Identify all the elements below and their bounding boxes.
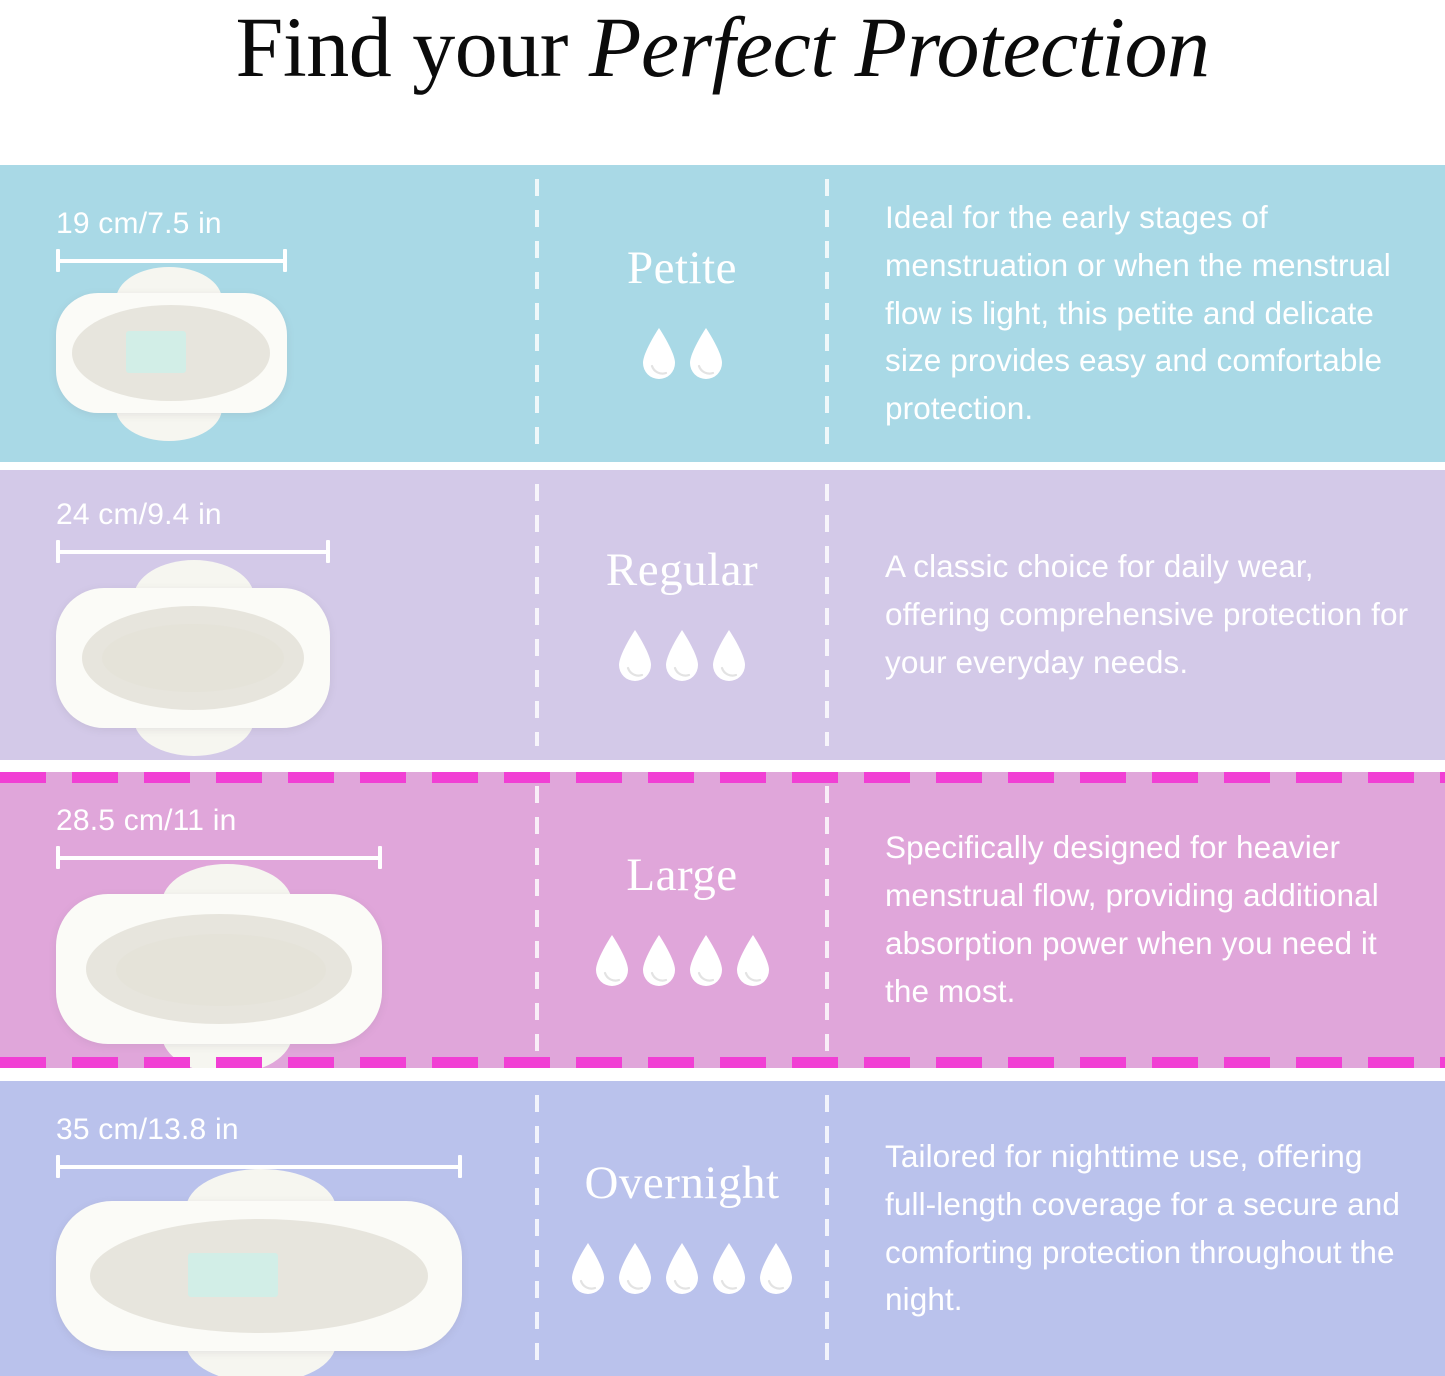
size-row-large[interactable]: 28.5 cm/11 in xyxy=(0,772,1445,1068)
droplet-icon xyxy=(662,1241,702,1297)
size-cell-large: 28.5 cm/11 in xyxy=(0,772,537,1068)
pad-illustration-large xyxy=(56,884,382,1054)
measurement-regular: 24 cm/9.4 in xyxy=(56,498,330,562)
droplet-icon xyxy=(639,933,679,989)
column-divider-1 xyxy=(535,1095,539,1362)
pad-illustration-overnight xyxy=(56,1191,462,1361)
description-cell-petite: Ideal for the early stages of menstruati… xyxy=(827,165,1445,462)
droplet-icon xyxy=(709,628,749,684)
droplet-icon xyxy=(615,628,655,684)
droplet-icon xyxy=(662,628,702,684)
column-divider-2 xyxy=(825,1095,829,1362)
droplet-icon xyxy=(686,326,726,382)
absorbency-drops-petite xyxy=(639,326,726,382)
column-divider-1 xyxy=(535,786,539,1054)
measurement-overnight: 35 cm/13.8 in xyxy=(56,1113,462,1177)
measurement-label: 19 cm/7.5 in xyxy=(56,207,287,241)
measurement-petite: 19 cm/7.5 in xyxy=(56,207,287,271)
size-name-label: Large xyxy=(626,852,737,899)
size-row-regular[interactable]: 24 cm/9.4 in xyxy=(0,470,1445,760)
size-rows: 19 cm/7.5 in xyxy=(0,165,1445,1376)
droplet-icon xyxy=(568,1241,608,1297)
pad-adhesive-strip xyxy=(126,331,186,373)
pad-illustration-petite xyxy=(56,283,287,423)
droplet-icon xyxy=(639,326,679,382)
pad-adhesive-strip xyxy=(188,1253,278,1297)
size-name-label: Overnight xyxy=(584,1160,779,1207)
size-name-label: Regular xyxy=(606,547,758,594)
droplet-icon xyxy=(686,933,726,989)
size-row-petite[interactable]: 19 cm/7.5 in xyxy=(0,165,1445,462)
measurement-bracket-icon xyxy=(56,540,330,562)
description-text: A classic choice for daily wear, offerin… xyxy=(885,543,1419,687)
droplet-icon xyxy=(709,1241,749,1297)
name-cell-petite: Petite xyxy=(537,165,827,462)
measurement-label: 28.5 cm/11 in xyxy=(56,804,382,838)
size-row-overnight[interactable]: 35 cm/13.8 in xyxy=(0,1081,1445,1376)
description-cell-large: Specifically designed for heavier menstr… xyxy=(827,772,1445,1068)
header: Find your Perfect Protection xyxy=(0,0,1445,165)
droplet-icon xyxy=(733,933,773,989)
column-divider-2 xyxy=(825,786,829,1054)
name-cell-overnight: Overnight xyxy=(537,1081,827,1376)
description-cell-regular: A classic choice for daily wear, offerin… xyxy=(827,470,1445,760)
size-cell-regular: 24 cm/9.4 in xyxy=(0,470,537,760)
name-cell-regular: Regular xyxy=(537,470,827,760)
page-title: Find your Perfect Protection xyxy=(235,2,1209,92)
name-cell-large: Large xyxy=(537,772,827,1068)
size-cell-overnight: 35 cm/13.8 in xyxy=(0,1081,537,1376)
column-divider-2 xyxy=(825,484,829,746)
column-divider-1 xyxy=(535,179,539,448)
absorbency-drops-large xyxy=(592,933,773,989)
absorbency-drops-regular xyxy=(615,628,749,684)
page-title-regular: Find your xyxy=(235,0,588,95)
description-text: Specifically designed for heavier menstr… xyxy=(885,824,1419,1016)
description-text: Ideal for the early stages of menstruati… xyxy=(885,194,1419,433)
absorbency-drops-overnight xyxy=(568,1241,796,1297)
size-name-label: Petite xyxy=(627,245,737,292)
measurement-large: 28.5 cm/11 in xyxy=(56,804,382,868)
column-divider-1 xyxy=(535,484,539,746)
page-title-italic: Perfect Protection xyxy=(589,0,1210,95)
column-divider-2 xyxy=(825,179,829,448)
droplet-icon xyxy=(615,1241,655,1297)
size-cell-petite: 19 cm/7.5 in xyxy=(0,165,537,462)
description-cell-overnight: Tailored for nighttime use, offering ful… xyxy=(827,1081,1445,1376)
measurement-label: 24 cm/9.4 in xyxy=(56,498,330,532)
droplet-icon xyxy=(592,933,632,989)
product-size-guide-infographic: Find your Perfect Protection 19 cm/7.5 i… xyxy=(0,0,1445,1367)
pad-illustration-regular xyxy=(56,578,330,738)
droplet-icon xyxy=(756,1241,796,1297)
measurement-label: 35 cm/13.8 in xyxy=(56,1113,462,1147)
description-text: Tailored for nighttime use, offering ful… xyxy=(885,1133,1419,1325)
